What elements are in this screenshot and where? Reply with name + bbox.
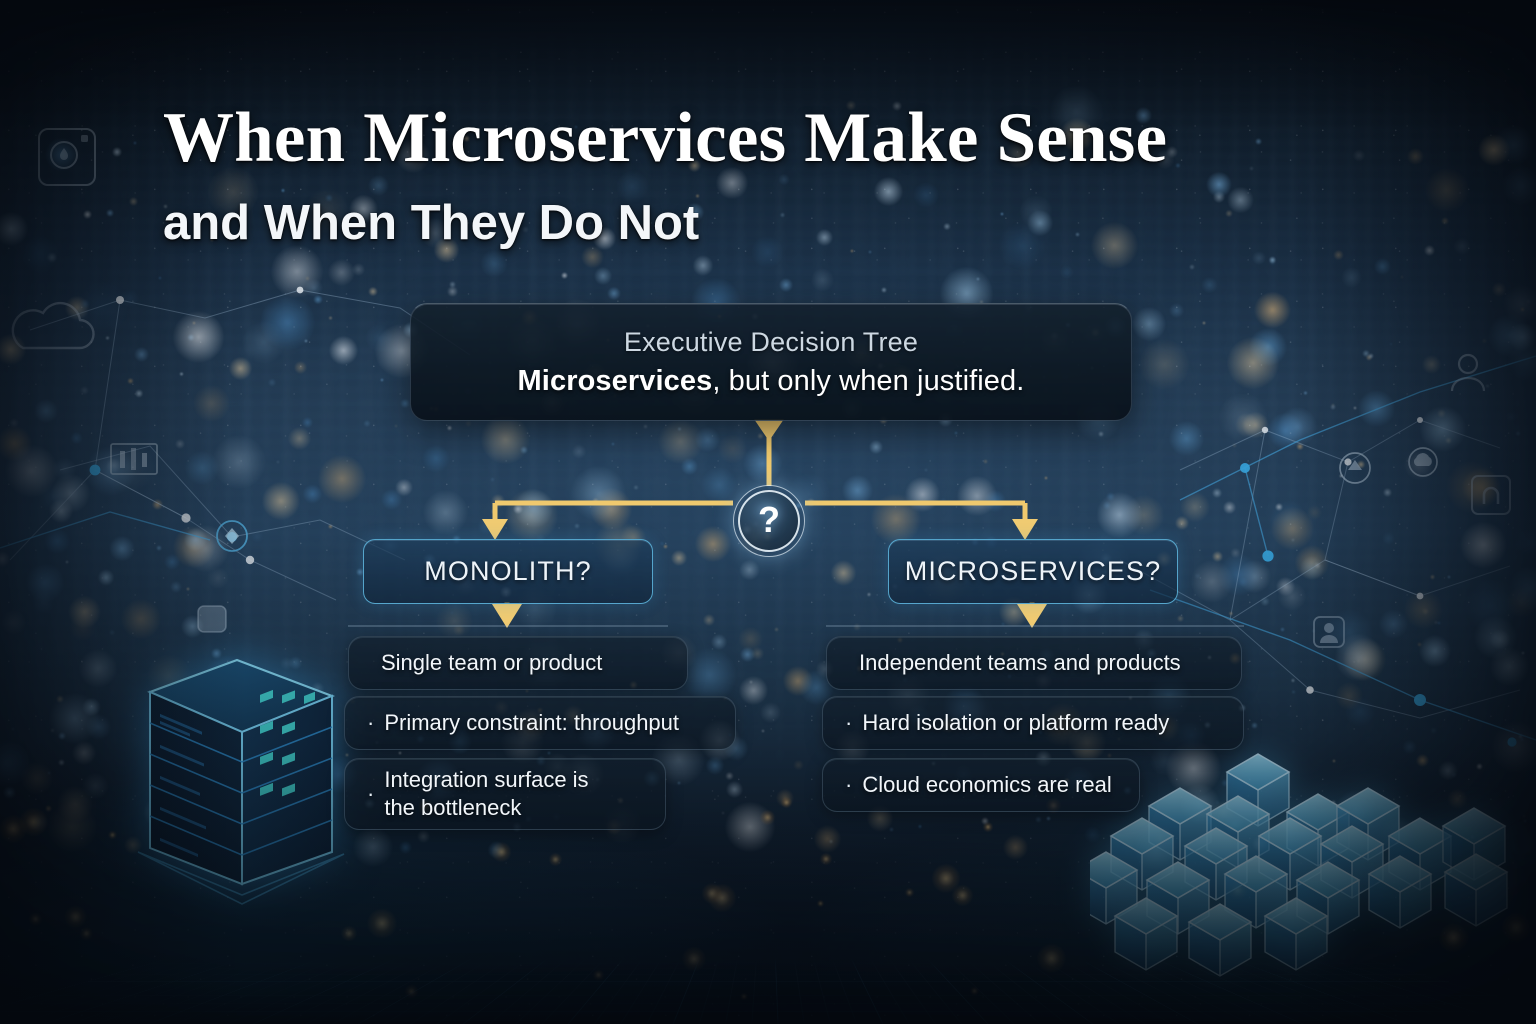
summary-headline-rest: , but only when justified. <box>712 365 1024 397</box>
criterion-text: Cloud economics are real <box>862 771 1111 799</box>
bar-chart-outline-icon <box>110 443 158 475</box>
bullet-marker: · <box>367 709 374 737</box>
summary-headline: Microservices, but only when justified. <box>518 365 1025 398</box>
criterion-pill[interactable]: · Integration surface is the bottleneck <box>344 758 666 830</box>
rounded-square-icon <box>196 604 228 634</box>
bullet-marker: · <box>367 780 374 808</box>
title-block: When Microservices Make Sense and When T… <box>163 102 1343 250</box>
circuit-floor-glow <box>0 676 1536 1024</box>
branch-label-microservices: MICROSERVICES? <box>905 556 1161 587</box>
microservice-cube-cluster-illustration <box>1090 740 1536 1002</box>
criterion-pill[interactable]: · Primary constraint: throughput <box>344 696 736 750</box>
criterion-pill[interactable]: Single team or product <box>348 636 688 690</box>
upload-node-icon <box>1337 450 1373 486</box>
person-badge-icon <box>1312 615 1346 649</box>
criterion-pill[interactable]: · Cloud economics are real <box>822 758 1140 812</box>
bullet-marker: · <box>845 771 852 799</box>
summary-eyebrow: Executive Decision Tree <box>624 327 918 358</box>
summary-card: Executive Decision Tree Microservices, b… <box>410 303 1132 421</box>
server-rack-monolith-illustration <box>132 652 347 907</box>
branch-label-monolith: MONOLITH? <box>424 556 591 587</box>
branch-header-monolith[interactable]: MONOLITH? <box>363 539 653 604</box>
camera-outline-icon <box>36 126 98 188</box>
isometric-circuit-floor <box>0 959 1536 1024</box>
cloud-node-icon <box>1406 445 1440 479</box>
criterion-text: Single team or product <box>381 649 602 677</box>
branch-header-microservices[interactable]: MICROSERVICES? <box>888 539 1178 604</box>
criterion-pill[interactable]: Independent teams and products <box>826 636 1242 690</box>
lock-outline-icon <box>1470 474 1512 516</box>
infographic-canvas: When Microservices Make Sense and When T… <box>0 0 1536 1024</box>
question-mark-icon: ? <box>733 485 805 557</box>
diamond-node-icon <box>214 518 250 554</box>
decision-question-node[interactable]: ? <box>733 485 805 557</box>
cloud-outline-icon <box>3 300 99 356</box>
criterion-text: Primary constraint: throughput <box>384 709 679 737</box>
page-title: When Microservices Make Sense <box>163 102 1343 174</box>
criterion-text: Independent teams and products <box>859 649 1181 677</box>
criterion-text: Hard isolation or platform ready <box>862 709 1169 737</box>
summary-headline-strong: Microservices <box>518 365 713 397</box>
criterion-text: Integration surface is the bottleneck <box>384 766 588 821</box>
criterion-pill[interactable]: · Hard isolation or platform ready <box>822 696 1244 750</box>
page-subtitle: and When They Do Not <box>163 198 1343 249</box>
user-outline-icon <box>1446 350 1490 394</box>
bullet-marker: · <box>845 709 852 737</box>
